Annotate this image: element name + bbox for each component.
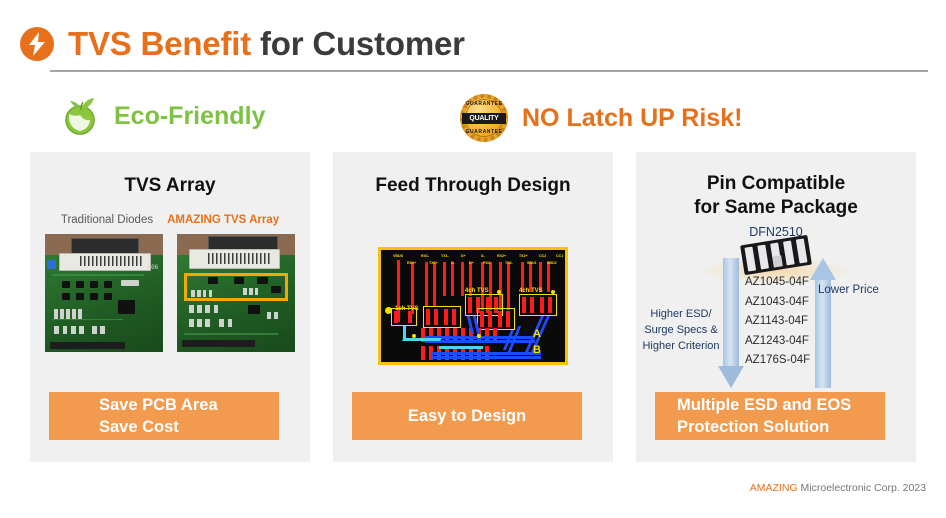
pcb-layout-diagram: VBUS RX1- TX1- D+ D- RX2+ TX2+ CC2 CC1 R… — [378, 247, 568, 365]
callout-3-line-1: Multiple ESD and EOS — [677, 394, 851, 416]
list-item: AZ176S-04F — [745, 354, 825, 366]
higher-esd-caption-line-2: Surge Specs & — [642, 323, 720, 339]
pcb-photo-amazing — [177, 234, 295, 352]
list-item: AZ1143-04F — [745, 315, 825, 327]
higher-esd-caption-line-3: Higher Criterion — [642, 339, 720, 355]
layout-label-b: B — [533, 344, 541, 356]
footer-brand: AMAZING — [750, 482, 798, 494]
higher-esd-caption: Higher ESD/ Surge Specs & Higher Criteri… — [642, 307, 720, 355]
label-traditional-diodes: Traditional Diodes — [61, 214, 153, 226]
page-title-rest: for Customer — [251, 25, 465, 62]
page-title-highlight: TVS Benefit — [68, 25, 251, 62]
callout-multiple-esd-eos: Multiple ESD and EOS Protection Solution — [655, 392, 885, 440]
no-latch-up-label: NO Latch UP Risk! — [522, 104, 742, 133]
pcb-photo-row: E06 — [30, 234, 310, 352]
panel-3-title-line-1: Pin Compatible — [636, 172, 916, 196]
list-item: AZ1045-04F — [745, 276, 825, 288]
list-item: AZ1243-04F — [745, 335, 825, 347]
eco-friendly-banner: Eco-Friendly — [60, 94, 265, 138]
higher-esd-arrow-icon — [718, 258, 744, 388]
list-item: AZ1043-04F — [745, 296, 825, 308]
pcb-photo-traditional: E06 — [45, 234, 163, 352]
seal-bottom-arc-text: GUARANTEE — [460, 129, 508, 135]
higher-esd-caption-line-1: Higher ESD/ — [642, 307, 720, 323]
seal-top-arc-text: GUARANTEE — [460, 101, 508, 107]
no-latch-up-banner: GUARANTEE QUALITY GUARANTEE NO Latch UP … — [460, 94, 742, 142]
callout-1-line-1: Save PCB Area — [99, 394, 218, 416]
footer: AMAZING Microelectronic Corp. 2023 — [0, 482, 926, 494]
lightning-bolt-icon — [20, 27, 54, 61]
callout-save-pcb-area: Save PCB Area Save Cost — [49, 392, 279, 440]
seal-center-text: QUALITY — [469, 115, 498, 122]
panel-3-title: Pin Compatible for Same Package — [636, 172, 916, 220]
quality-guarantee-seal-icon: GUARANTEE QUALITY GUARANTEE — [460, 94, 508, 142]
part-number-list: AZ1045-04F AZ1043-04F AZ1143-04F AZ1243-… — [745, 276, 825, 374]
label-amazing-tvs-array: AMAZING TVS Array — [167, 214, 279, 226]
panel-1-title: TVS Array — [30, 174, 310, 198]
page-title: TVS Benefit for Customer — [68, 25, 465, 63]
panel-3-title-line-2: for Same Package — [636, 196, 916, 220]
title-divider — [50, 70, 928, 72]
panel-2-title: Feed Through Design — [333, 174, 613, 198]
callout-easy-to-design: Easy to Design — [352, 392, 582, 440]
callout-3-line-2: Protection Solution — [677, 416, 851, 438]
pcb-photo-code: E06 — [147, 264, 158, 271]
lower-price-caption: Lower Price — [818, 284, 910, 296]
panel-1-sublabels: Traditional Diodes AMAZING TVS Array — [30, 214, 310, 226]
page-title-bar: TVS Benefit for Customer — [20, 16, 926, 72]
footer-text: Microelectronic Corp. 2023 — [798, 482, 926, 494]
callout-2-text: Easy to Design — [408, 405, 526, 427]
eco-friendly-label: Eco-Friendly — [114, 102, 265, 131]
package-name-label: DFN2510 — [636, 225, 916, 239]
callout-1-line-2: Save Cost — [99, 416, 218, 438]
eco-globe-icon — [60, 94, 104, 138]
layout-label-a: A — [533, 328, 541, 340]
